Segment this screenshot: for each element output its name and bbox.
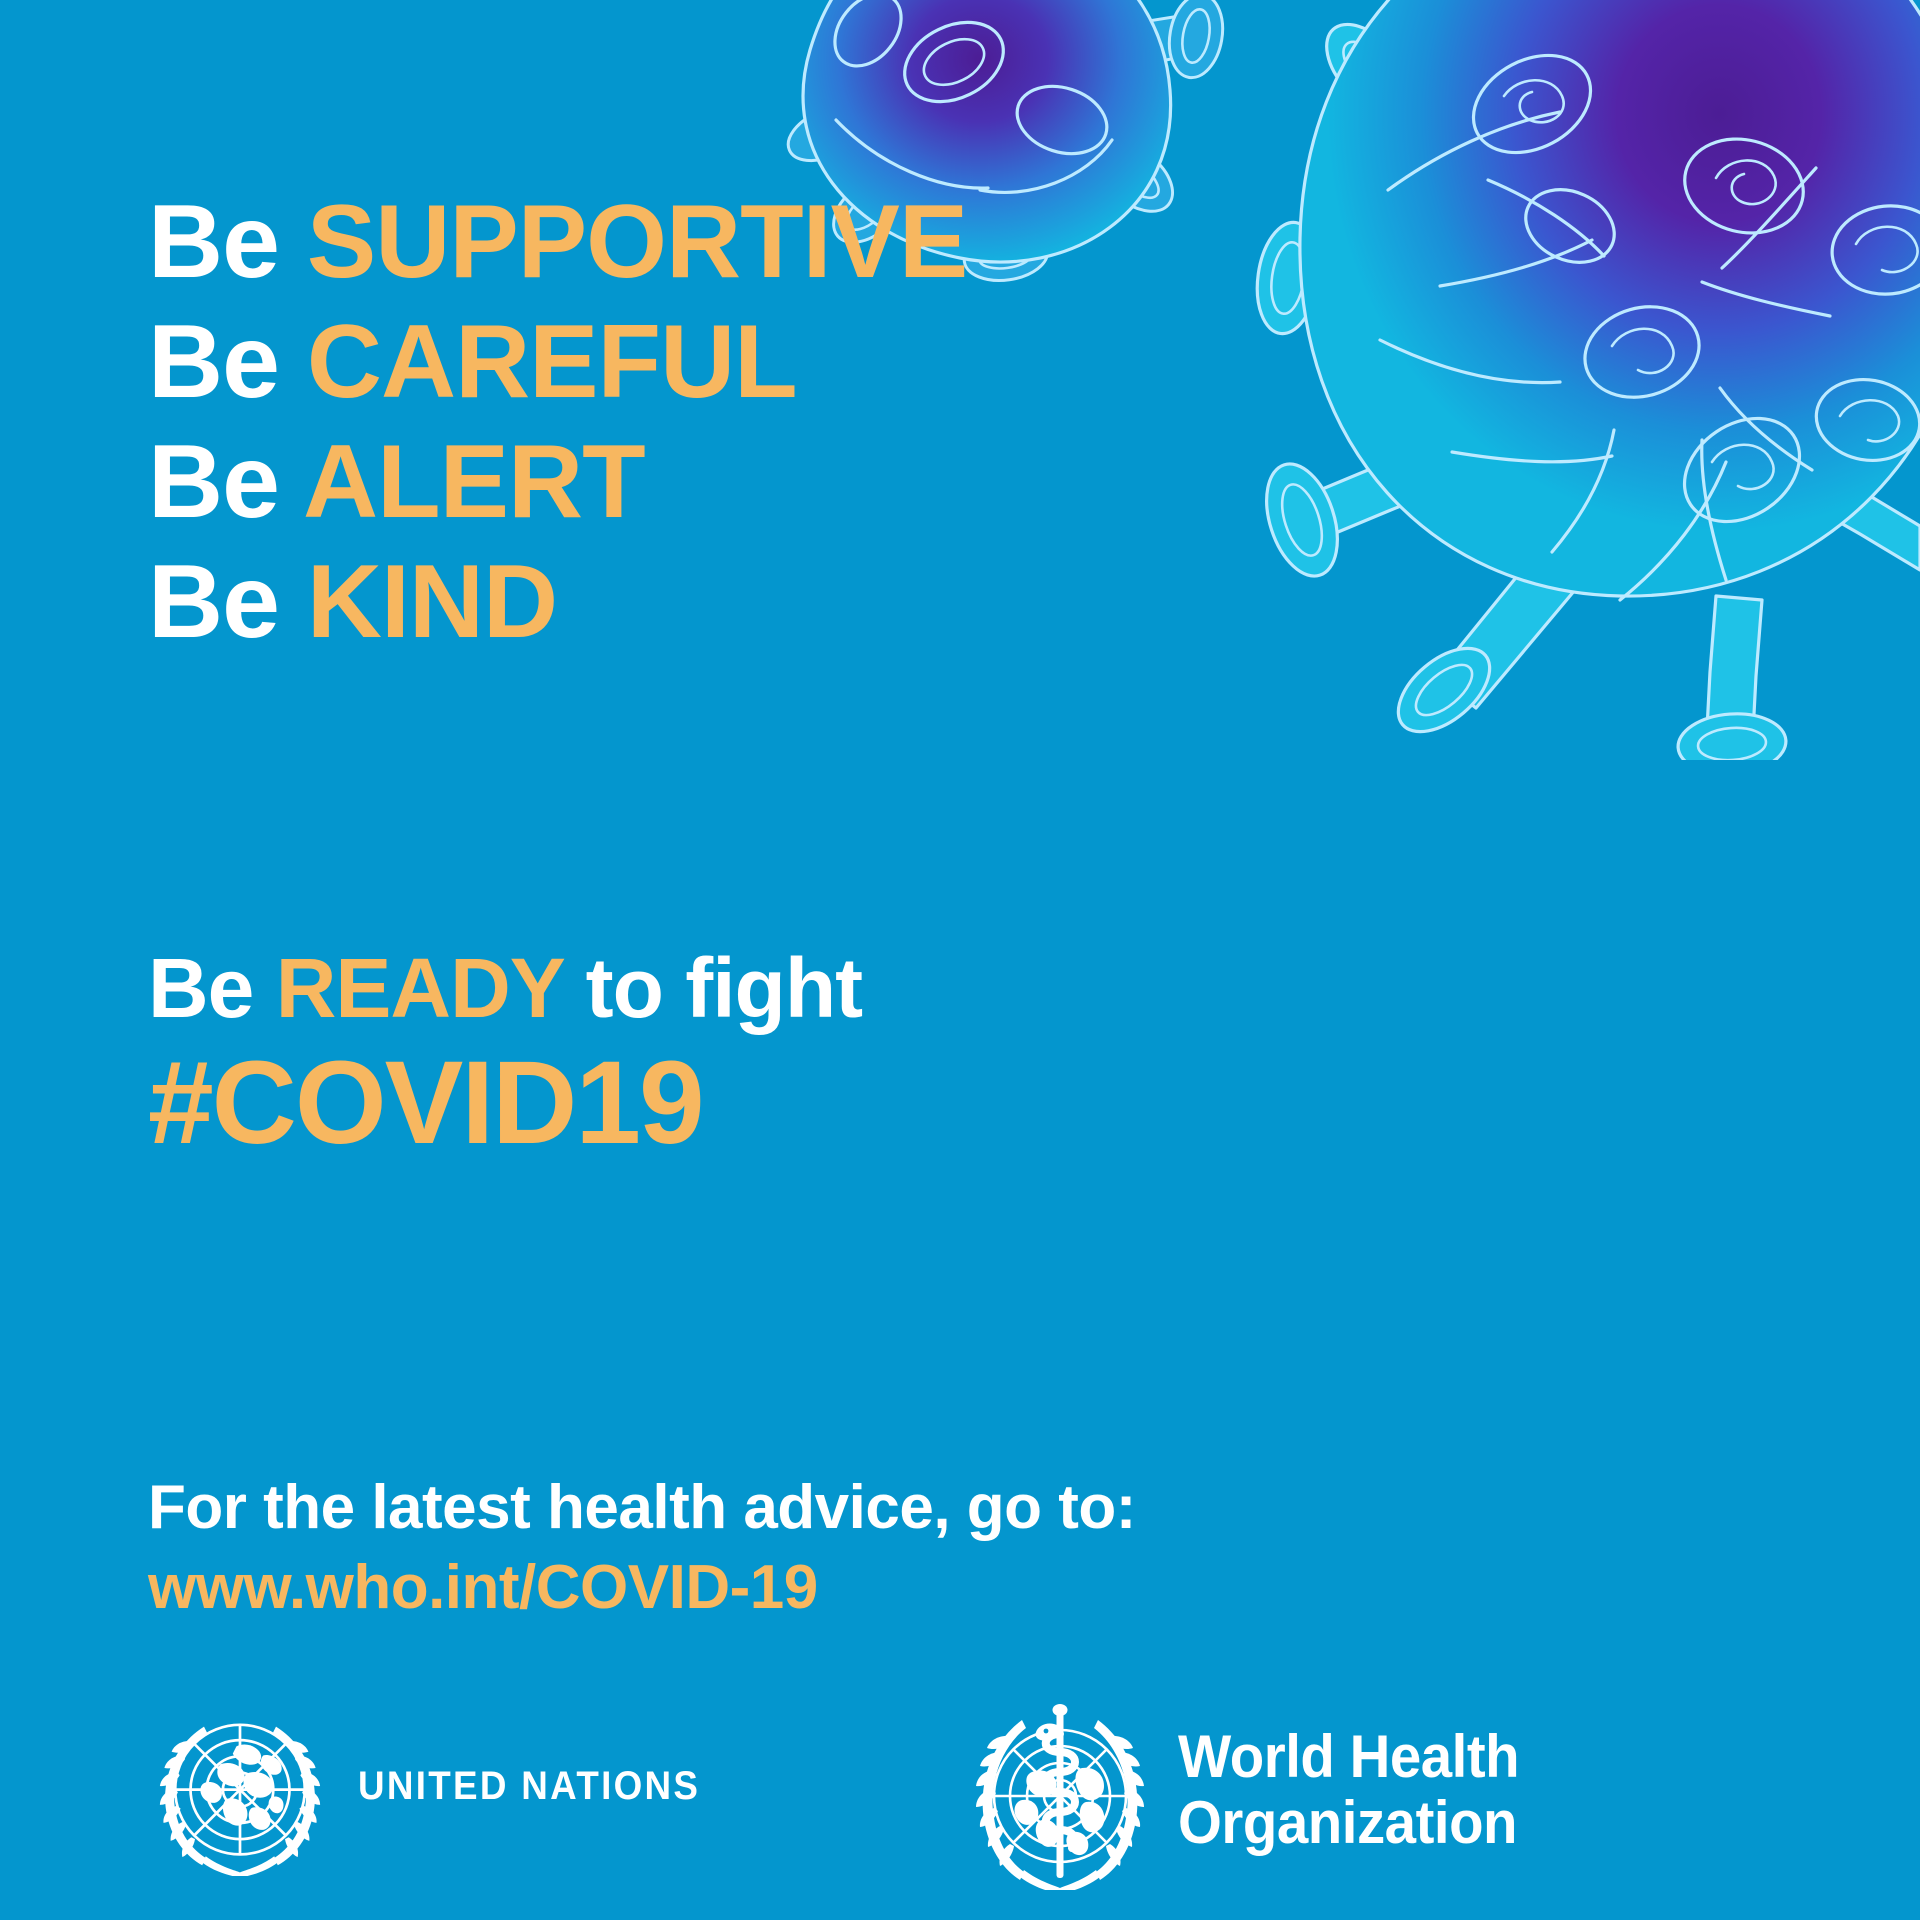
footer-logos: UNITED NATIONS [0, 1690, 1920, 1900]
callout-lead: Be [148, 941, 253, 1035]
advice-label: For the latest health advice, go to: [148, 1468, 1448, 1548]
headline-keyword-supportive: SUPPORTIVE [307, 184, 967, 300]
callout-keyword-ready: READY [276, 941, 564, 1035]
poster-canvas: .ln { fill:none; stroke:#bdeaff; stroke-… [0, 0, 1920, 1920]
headline-prefix: Be [148, 304, 279, 420]
headline-line-1: Be SUPPORTIVE [148, 182, 1248, 302]
who-wordmark: World Health Organization [1178, 1724, 1519, 1856]
headline-keyword-alert: ALERT [303, 424, 645, 540]
united-nations-wordmark: UNITED NATIONS [358, 1764, 700, 1809]
callout-trail: to fight [586, 941, 863, 1035]
advice-block: For the latest health advice, go to: www… [148, 1468, 1448, 1628]
hashtag-covid19: #COVID19 [148, 1040, 1348, 1166]
who-wordmark-line-2: Organization [1178, 1790, 1519, 1856]
world-health-organization-logo: World Health Organization [960, 1690, 1541, 1890]
united-nations-logo: UNITED NATIONS [150, 1696, 730, 1876]
who-wordmark-line-1: World Health [1178, 1724, 1519, 1790]
headline-prefix: Be [148, 184, 279, 300]
headline-line-4: Be KIND [148, 542, 1248, 662]
headline-prefix: Be [148, 424, 279, 540]
world-health-organization-emblem [960, 1690, 1160, 1890]
callout-line: Be READY to fight [148, 940, 1348, 1036]
headline-keyword-careful: CAREFUL [307, 304, 797, 420]
headline-line-2: Be CAREFUL [148, 302, 1248, 422]
callout-block: Be READY to fight #COVID19 [148, 940, 1348, 1166]
advice-url-link[interactable]: www.who.int/COVID-19 [148, 1548, 1448, 1628]
headline-keyword-kind: KIND [307, 544, 557, 660]
headline-prefix: Be [148, 544, 279, 660]
headline-list: Be SUPPORTIVE Be CAREFUL Be ALERT Be KIN… [148, 182, 1248, 662]
virus-particle-large [1250, 0, 1920, 760]
united-nations-emblem [150, 1696, 330, 1876]
headline-line-3: Be ALERT [148, 422, 1248, 542]
